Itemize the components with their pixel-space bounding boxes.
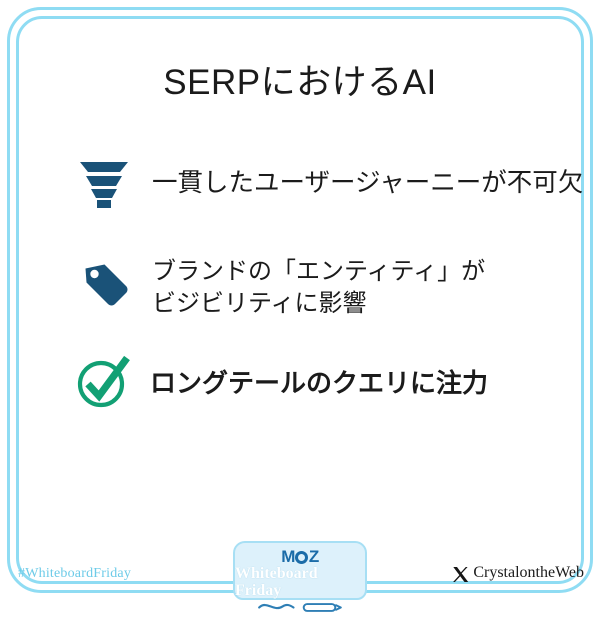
circle-check-icon — [75, 355, 133, 410]
moz-wordmark-m: M — [281, 548, 295, 565]
bullet-text-3: ロングテールのクエリに注力 — [150, 355, 488, 400]
attribution: CrystalontheWeb — [452, 564, 584, 582]
x-logo-icon — [452, 566, 469, 583]
moz-wordmark: M Z — [281, 548, 319, 565]
whiteboard-friday-label: Whiteboard Friday — [235, 566, 365, 600]
bullet-text-2: ブランドの「エンティティ」が ビジビリティに影響 — [152, 256, 485, 319]
slide-canvas: SERPにおけるAI 一貫したユーザージャーニーが不可欠 ブランドの「エンティテ… — [0, 0, 600, 600]
bullet-row-3: ロングテールのクエリに注力 — [75, 355, 488, 410]
marker-squiggle-icon — [252, 601, 348, 619]
bullet-row-1: 一貫したユーザージャーニーが不可欠 — [78, 156, 583, 208]
bullet-text-1: 一貫したユーザージャーニーが不可欠 — [152, 156, 583, 201]
tag-icon — [78, 256, 130, 308]
moz-whiteboard-friday-badge: M Z Whiteboard Friday — [233, 541, 367, 600]
bullet-row-2: ブランドの「エンティティ」が ビジビリティに影響 — [78, 256, 485, 319]
footer-hashtag: #WhiteboardFriday — [18, 566, 131, 582]
attribution-handle: CrystalontheWeb — [473, 564, 584, 582]
moz-wordmark-o-icon — [295, 551, 308, 564]
slide-title: SERPにおけるAI — [0, 54, 600, 105]
moz-wordmark-z: Z — [309, 548, 319, 565]
funnel-icon — [78, 156, 130, 208]
